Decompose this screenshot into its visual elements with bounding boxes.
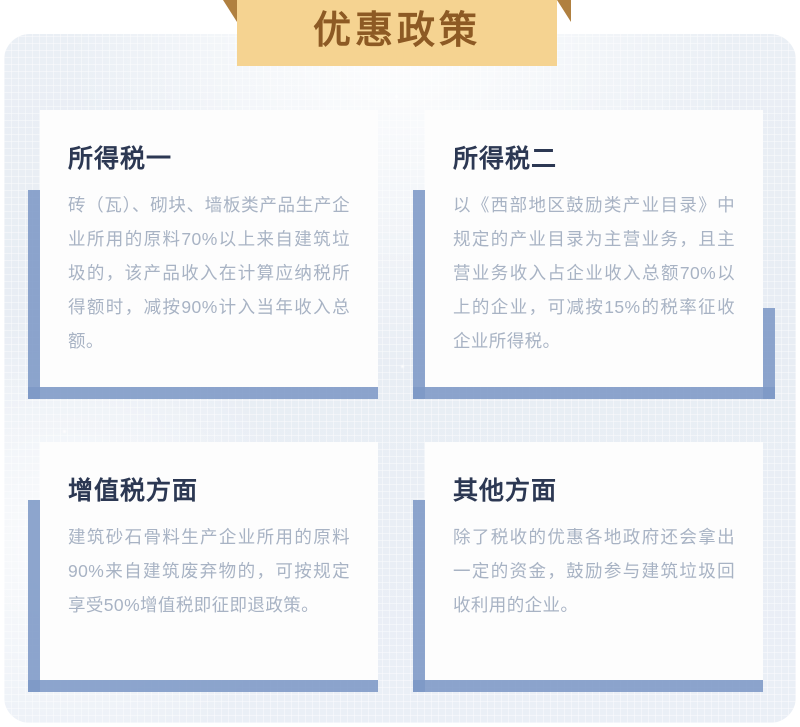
card-shadow-left [413, 500, 425, 692]
ribbon-fold-left-icon [223, 0, 237, 22]
card-shadow-left [413, 190, 425, 399]
policy-card-income-tax-1[interactable]: 所得税一 砖（瓦）、砌块、墙板类产品生产企业所用的原料70%以上来自建筑垃圾的，… [40, 110, 378, 387]
policy-card-vat[interactable]: 增值税方面 建筑砂石骨料生产企业所用的原料90%来自建筑废弃物的，可按规定享受5… [40, 442, 378, 680]
card-title: 所得税二 [453, 144, 735, 174]
ribbon-fold-right-icon [557, 0, 571, 22]
sparkle-dot [400, 364, 405, 369]
card-title: 所得税一 [68, 144, 350, 174]
card-shadow-right [763, 308, 775, 399]
card-title: 其他方面 [453, 476, 735, 506]
card-shadow-left [28, 500, 40, 692]
card-title: 增值税方面 [68, 476, 350, 506]
card-shadow-bottom [28, 680, 378, 692]
card-shadow-bottom [413, 680, 763, 692]
card-shadow-bottom [413, 387, 775, 399]
card-shadow-left [28, 190, 40, 399]
infographic-root: 所得税一 砖（瓦）、砌块、墙板类产品生产企业所用的原料70%以上来自建筑垃圾的，… [0, 0, 800, 727]
page-title: 优惠政策 [237, 0, 557, 66]
policy-card-income-tax-2[interactable]: 所得税二 以《西部地区鼓励类产业目录》中规定的产业目录为主营业务，且主营业务收入… [425, 110, 763, 387]
card-body: 砖（瓦）、砌块、墙板类产品生产企业所用的原料70%以上来自建筑垃圾的，该产品收入… [68, 188, 350, 358]
title-ribbon: 优惠政策 [237, 0, 557, 66]
card-body: 以《西部地区鼓励类产业目录》中规定的产业目录为主营业务，且主营业务收入占企业收入… [453, 188, 735, 358]
sparkle-dot [62, 429, 67, 434]
sparkle-dot [394, 94, 399, 99]
card-body: 建筑砂石骨料生产企业所用的原料90%来自建筑废弃物的，可按规定享受50%增值税即… [68, 520, 350, 622]
policy-card-other[interactable]: 其他方面 除了税收的优惠各地政府还会拿出一定的资金，鼓励参与建筑垃圾回收利用的企… [425, 442, 763, 680]
card-shadow-bottom [28, 387, 378, 399]
card-body: 除了税收的优惠各地政府还会拿出一定的资金，鼓励参与建筑垃圾回收利用的企业。 [453, 520, 735, 622]
